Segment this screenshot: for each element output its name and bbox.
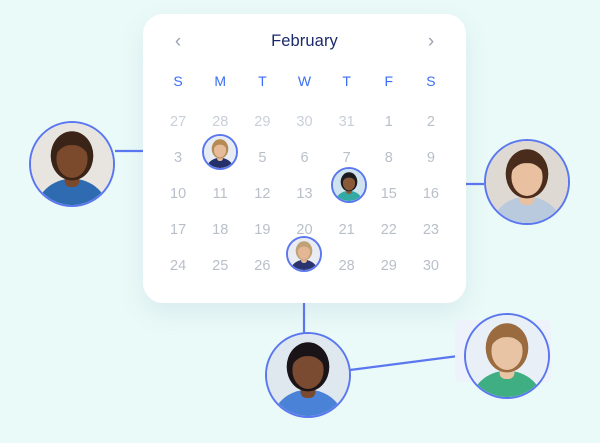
day-cell[interactable]: 16 (410, 176, 452, 212)
day-cell[interactable]: 22 (368, 212, 410, 248)
avatar-portrait (267, 334, 349, 416)
avatar-woman-glasses-stethoscope[interactable] (265, 332, 351, 418)
day-cell[interactable]: 2 (410, 104, 452, 140)
avatar-portrait (288, 238, 320, 270)
calendar-scene: MEETING ‹ February › SMTWTFS 27282930311… (0, 0, 600, 443)
avatar-portrait (204, 136, 236, 168)
day-cell[interactable]: 19 (241, 212, 283, 248)
calendar-header: ‹ February › (143, 14, 466, 60)
weekday-label-1: M (199, 68, 241, 94)
avatar-portrait (333, 169, 365, 201)
day-cell[interactable]: 29 (368, 248, 410, 284)
weekday-label-5: F (368, 68, 410, 94)
weekday-header-row: SMTWTFS (143, 60, 466, 94)
day-cell[interactable]: 30 (283, 104, 325, 140)
day-cell[interactable]: 5 (241, 140, 283, 176)
chevron-left-icon[interactable]: ‹ (167, 30, 189, 52)
day-cell[interactable]: 6 (283, 140, 325, 176)
day-cell[interactable]: 11 (199, 176, 241, 212)
day-cell[interactable]: 29 (241, 104, 283, 140)
day-cell[interactable]: 12 (241, 176, 283, 212)
day-cell[interactable]: 23 (410, 212, 452, 248)
weekday-label-6: S (410, 68, 452, 94)
avatar-portrait (466, 315, 548, 397)
avatar-woman-green-blouse-presenting[interactable] (464, 313, 550, 399)
day-cell[interactable]: 1 (368, 104, 410, 140)
avatar-portrait (31, 123, 113, 205)
day-cell[interactable]: 26 (241, 248, 283, 284)
weekday-label-4: T (326, 68, 368, 94)
day-cell[interactable]: 13 (283, 176, 325, 212)
avatar-woman-brown-hair-profile[interactable] (484, 139, 570, 225)
day-cell[interactable]: 28 (326, 248, 368, 284)
avatar-portrait (486, 141, 568, 223)
day-cell[interactable]: 31 (326, 104, 368, 140)
day-cell[interactable]: 3 (157, 140, 199, 176)
month-title: February (271, 32, 338, 51)
weekday-label-3: W (283, 68, 325, 94)
day-cell[interactable]: 21 (326, 212, 368, 248)
avatar-woman-ponytail-navy[interactable] (286, 236, 322, 272)
day-cell[interactable]: 8 (368, 140, 410, 176)
day-cell[interactable]: 17 (157, 212, 199, 248)
day-cell[interactable]: 30 (410, 248, 452, 284)
weekday-label-0: S (157, 68, 199, 94)
day-cell[interactable]: 25 (199, 248, 241, 284)
avatar-man-teal-scrubs[interactable] (331, 167, 367, 203)
avatar-bald-man-blue-scrubs[interactable] (29, 121, 115, 207)
chevron-right-icon[interactable]: › (420, 30, 442, 52)
day-cell[interactable]: 18 (199, 212, 241, 248)
weekday-label-2: T (241, 68, 283, 94)
day-cell[interactable]: 15 (368, 176, 410, 212)
day-cell[interactable]: 24 (157, 248, 199, 284)
avatar-blonde-woman-navy-top[interactable] (202, 134, 238, 170)
day-cell[interactable]: 27 (157, 104, 199, 140)
connector-bottom-center-to-bottom-right (350, 355, 466, 370)
day-cell[interactable]: 9 (410, 140, 452, 176)
day-cell[interactable]: 10 (157, 176, 199, 212)
